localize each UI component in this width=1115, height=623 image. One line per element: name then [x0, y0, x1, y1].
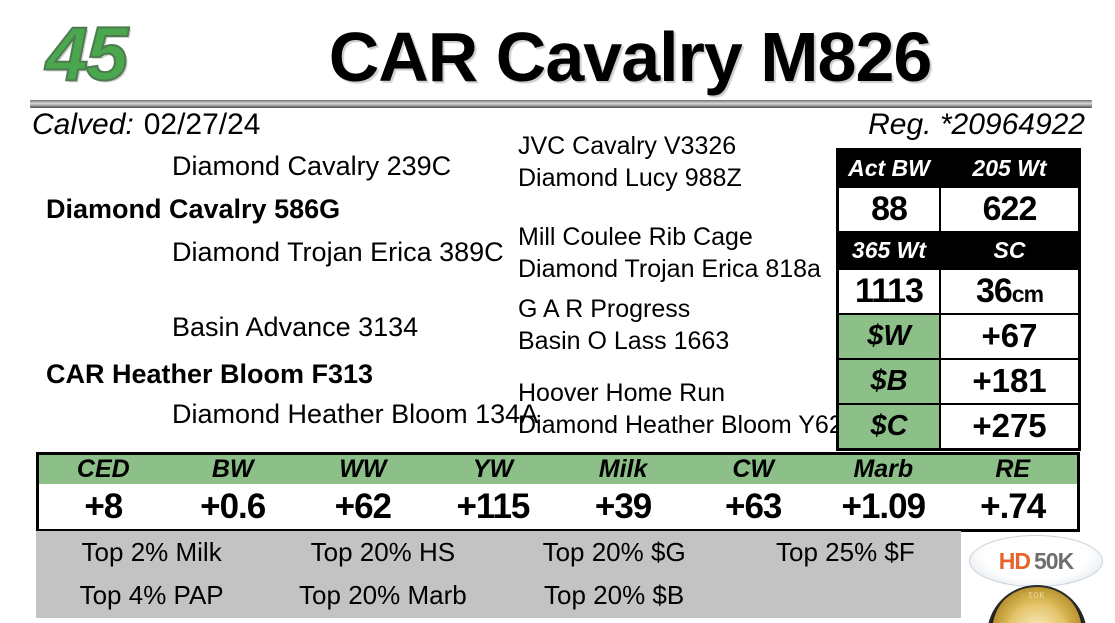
index-value-w: +67: [940, 314, 1080, 359]
pedigree-sire-gs-dam: Diamond Lucy 988Z: [518, 162, 742, 194]
top-percentile-1-3: Top 20% $G: [499, 537, 730, 568]
epd-value-ww: +62: [298, 484, 428, 531]
pedigree-dam-granddam-parents: Hoover Home Run Diamond Heather Bloom Y6…: [518, 377, 857, 441]
hd50k-suffix: 50K: [1034, 548, 1073, 575]
top-percentile-1-2: Top 20% HS: [267, 537, 498, 568]
top-percentile-2-3: Top 20% $B: [499, 580, 730, 611]
pedigree-sire-gs-sire: JVC Cavalry V3326: [518, 130, 742, 162]
index-label-w: $W: [838, 314, 941, 359]
pedigree-dam-gd-sire: Hoover Home Run: [518, 377, 857, 409]
pedigree-dam-gd-dam: Diamond Heather Bloom Y626: [518, 409, 857, 441]
epd-header-ced: CED: [38, 454, 168, 485]
hd50k-logo-icon: HD50K: [969, 535, 1103, 587]
365wt-value: 1113: [838, 269, 941, 314]
epd-header-re: RE: [948, 454, 1078, 485]
pedigree-sire: Diamond Cavalry 586G: [46, 195, 340, 223]
sc-header: SC: [940, 232, 1080, 269]
epd-value-bw: +0.6: [168, 484, 298, 531]
hd50k-prefix: HD: [999, 548, 1030, 575]
index-value-b: +181: [940, 359, 1080, 404]
top-percentile-row-1: Top 2% Milk Top 20% HS Top 20% $G Top 25…: [36, 531, 961, 574]
sale-catalog-page: 45 CAR Cavalry M826 Calved:02/27/24 Reg.…: [0, 0, 1115, 623]
pedigree-sire-grandsire: Diamond Cavalry 239C: [172, 152, 451, 180]
top-percentile-1-1: Top 2% Milk: [36, 537, 267, 568]
measurements-table: Act BW 205 Wt 88 622 365 Wt SC 1113 36cm…: [836, 148, 1081, 451]
top-percentile-row-2: Top 4% PAP Top 20% Marb Top 20% $B: [36, 574, 961, 617]
pedigree-dam-grandsire-parents: G A R Progress Basin O Lass 1663: [518, 293, 729, 357]
gold-seal-icon: · 50K ·: [987, 585, 1087, 623]
header-divider: [30, 100, 1092, 108]
205wt-header: 205 Wt: [940, 150, 1080, 187]
calved-line: Calved:02/27/24: [32, 108, 261, 142]
pedigree-dam: CAR Heather Bloom F313: [46, 360, 373, 388]
top-percentile-2-2: Top 20% Marb: [267, 580, 498, 611]
table-row: 88 622: [838, 187, 1080, 232]
epd-header-cw: CW: [688, 454, 818, 485]
epd-header-milk: Milk: [558, 454, 688, 485]
top-percentile-2-1: Top 4% PAP: [36, 580, 267, 611]
page-title: CAR Cavalry M826: [160, 14, 1100, 100]
pedigree-dam-grandsire: Basin Advance 3134: [172, 313, 418, 341]
epd-table: CED BW WW YW Milk CW Marb RE +8 +0.6 +62…: [36, 452, 1080, 532]
table-row: $W +67: [838, 314, 1080, 359]
pedigree-dam-gs-dam: Basin O Lass 1663: [518, 325, 729, 357]
epd-header-bw: BW: [168, 454, 298, 485]
pedigree-sire-grandsire-parents: JVC Cavalry V3326 Diamond Lucy 988Z: [518, 130, 742, 194]
pedigree-dam-gs-sire: G A R Progress: [518, 293, 729, 325]
epd-header-row: CED BW WW YW Milk CW Marb RE: [38, 454, 1079, 485]
table-row: 365 Wt SC: [838, 232, 1080, 269]
calved-date: 02/27/24: [144, 108, 261, 141]
act-bw-value: 88: [838, 187, 941, 232]
index-label-c: $C: [838, 404, 941, 450]
top-percentile-1-4: Top 25% $F: [730, 537, 961, 568]
pedigree-sire-granddam: Diamond Trojan Erica 389C: [172, 238, 504, 266]
365wt-header: 365 Wt: [838, 232, 941, 269]
epd-value-re: +.74: [948, 484, 1078, 531]
seal-label: · 50K ·: [989, 591, 1085, 600]
sc-unit: cm: [1012, 281, 1043, 307]
sc-number: 36: [976, 272, 1012, 310]
table-row: $C +275: [838, 404, 1080, 450]
205wt-value: 622: [940, 187, 1080, 232]
epd-header-ww: WW: [298, 454, 428, 485]
pedigree-dam-granddam: Diamond Heather Bloom 134A: [172, 400, 538, 428]
index-label-b: $B: [838, 359, 941, 404]
epd-value-yw: +115: [428, 484, 558, 531]
epd-value-milk: +39: [558, 484, 688, 531]
pedigree-sire-gd-sire: Mill Coulee Rib Cage: [518, 221, 821, 253]
sc-value: 36cm: [940, 269, 1080, 314]
top-percentile-band: Top 2% Milk Top 20% HS Top 20% $G Top 25…: [36, 531, 961, 618]
epd-header-yw: YW: [428, 454, 558, 485]
pedigree-sire-granddam-parents: Mill Coulee Rib Cage Diamond Trojan Eric…: [518, 221, 821, 285]
logo-area: HD50K · 50K ·: [961, 531, 1115, 623]
epd-value-row: +8 +0.6 +62 +115 +39 +63 +1.09 +.74: [38, 484, 1079, 531]
seal-inner: [1005, 603, 1069, 623]
epd-header-marb: Marb: [818, 454, 948, 485]
epd-value-marb: +1.09: [818, 484, 948, 531]
act-bw-header: Act BW: [838, 150, 941, 187]
calved-label: Calved:: [32, 108, 134, 141]
lot-number: 45: [26, 11, 146, 99]
pedigree-sire-gd-dam: Diamond Trojan Erica 818a: [518, 253, 821, 285]
epd-value-ced: +8: [38, 484, 168, 531]
epd-value-cw: +63: [688, 484, 818, 531]
registration-number: Reg. *20964922: [868, 108, 1085, 142]
table-row: 1113 36cm: [838, 269, 1080, 314]
index-value-c: +275: [940, 404, 1080, 450]
table-row: $B +181: [838, 359, 1080, 404]
table-row: Act BW 205 Wt: [838, 150, 1080, 187]
